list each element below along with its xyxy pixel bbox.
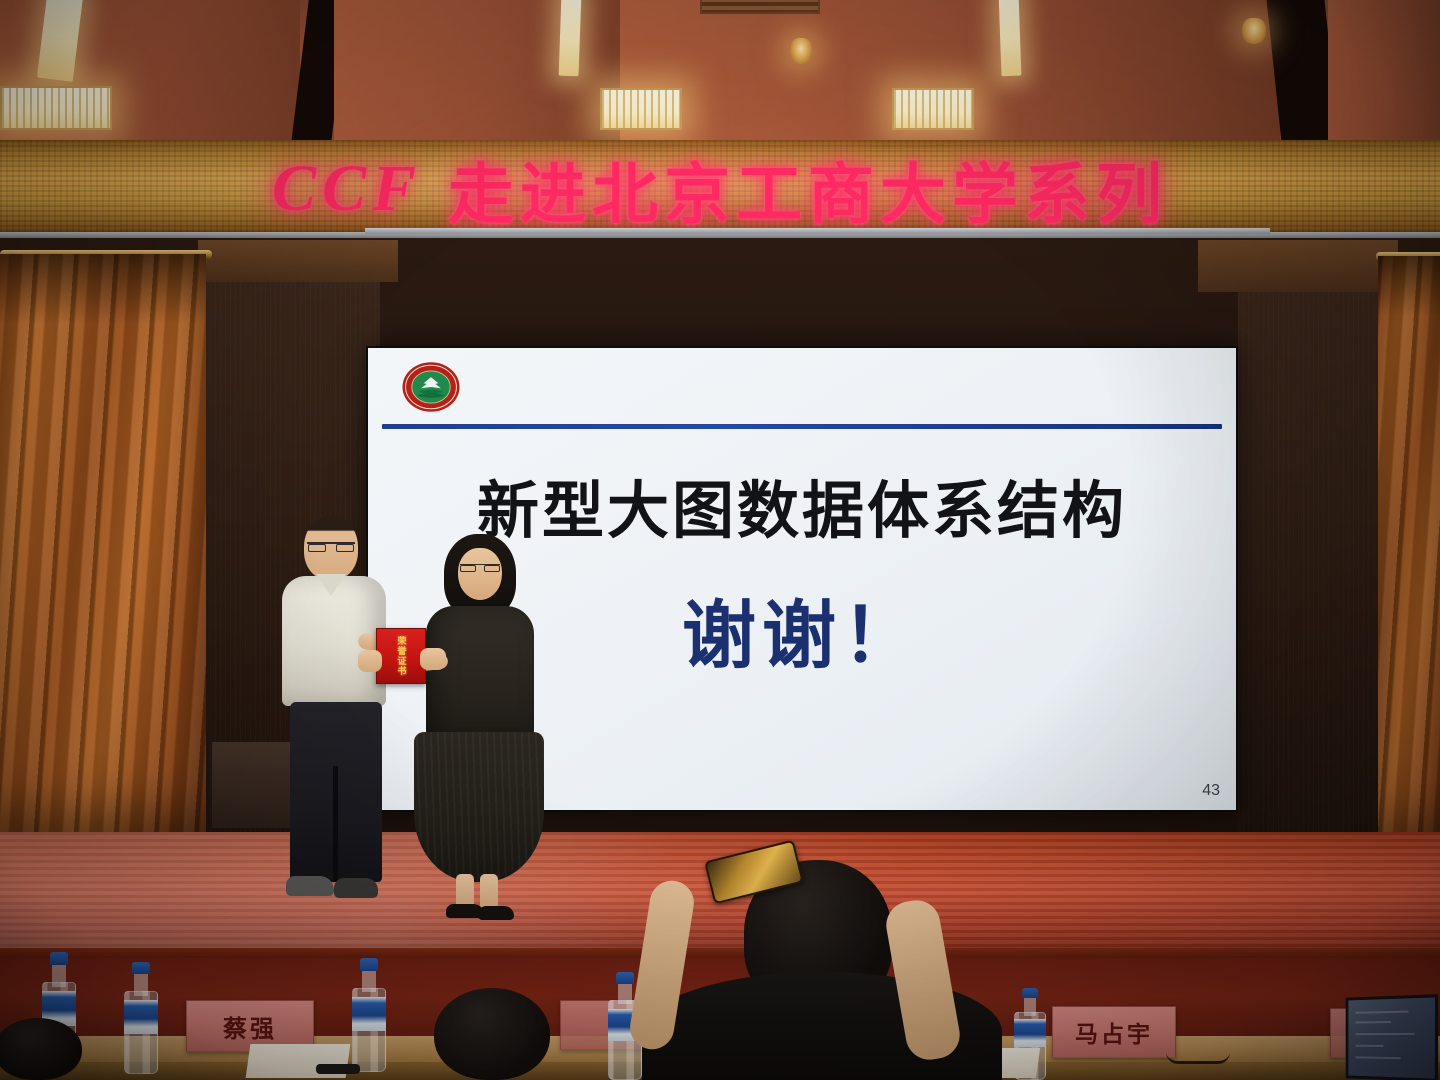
presenter-trouser-split bbox=[333, 766, 338, 882]
presenter-left bbox=[276, 516, 396, 906]
ceiling-spot-lamp bbox=[1242, 18, 1266, 44]
recipient-skirt bbox=[414, 732, 544, 882]
ceiling-strip-light bbox=[559, 0, 582, 76]
stage-curtain-right bbox=[1378, 256, 1440, 848]
presenter-shoe-left bbox=[286, 876, 334, 896]
desk-cable bbox=[1166, 1052, 1230, 1064]
slide-page-number: 43 bbox=[1202, 782, 1220, 800]
presenter-glasses-icon bbox=[307, 542, 355, 551]
recipient-dress-top bbox=[426, 606, 534, 738]
ceiling-panel-light bbox=[892, 88, 974, 130]
water-bottle bbox=[124, 962, 158, 1074]
university-emblem-icon bbox=[400, 356, 462, 418]
nameplate-label: 蔡强 bbox=[223, 1009, 277, 1044]
honour-certificate: 荣誉证书 bbox=[376, 628, 426, 684]
nameplate-label: 马占宇 bbox=[1075, 1015, 1153, 1049]
audience-head bbox=[0, 1018, 82, 1080]
presenter-shoe-right bbox=[334, 878, 378, 898]
recipient-head bbox=[458, 548, 502, 600]
wall-soffit-right bbox=[1198, 240, 1398, 292]
audience-head bbox=[434, 988, 550, 1080]
curtain-shadow-left bbox=[0, 254, 206, 324]
person-photographing bbox=[596, 846, 1016, 1080]
certificate-text: 荣誉证书 bbox=[377, 629, 425, 683]
recipient-leg-right bbox=[480, 874, 498, 910]
wall-panel-right bbox=[1238, 292, 1398, 842]
recipient-shoe-right bbox=[478, 906, 514, 920]
ceiling bbox=[0, 0, 1440, 142]
recipient-hand bbox=[420, 648, 446, 670]
banner-main-text: 走进北京工商大学系列 bbox=[448, 141, 1168, 237]
presenter-hand bbox=[358, 650, 382, 672]
curtain-shadow-right bbox=[1378, 256, 1440, 316]
stage-curtain-left bbox=[0, 254, 206, 840]
ceiling-vent bbox=[700, 0, 820, 14]
nameplate-ma-zhanyu: 马占宇 bbox=[1052, 1006, 1176, 1058]
wall-soffit-left bbox=[198, 240, 398, 282]
ceiling-spot-lamp bbox=[790, 38, 812, 64]
banner-prefix: CCF bbox=[272, 151, 422, 227]
open-laptop bbox=[1346, 994, 1438, 1080]
banner-rail-inner bbox=[365, 228, 1270, 234]
water-bottle bbox=[352, 958, 386, 1072]
recipient-glasses-icon bbox=[460, 564, 500, 572]
led-banner: CCF 走进北京工商大学系列 bbox=[0, 140, 1440, 238]
recipient-right bbox=[420, 534, 540, 916]
ceiling-panel-light bbox=[600, 88, 682, 130]
slide-divider-rule bbox=[382, 424, 1222, 429]
conference-hall-photo: CCF 走进北京工商大学系列 bbox=[0, 0, 1440, 1080]
ceiling-strip-light bbox=[999, 0, 1022, 76]
banner-text: CCF 走进北京工商大学系列 bbox=[0, 140, 1440, 238]
ceiling-panel-light bbox=[0, 86, 112, 130]
desk-remote bbox=[316, 1064, 360, 1074]
